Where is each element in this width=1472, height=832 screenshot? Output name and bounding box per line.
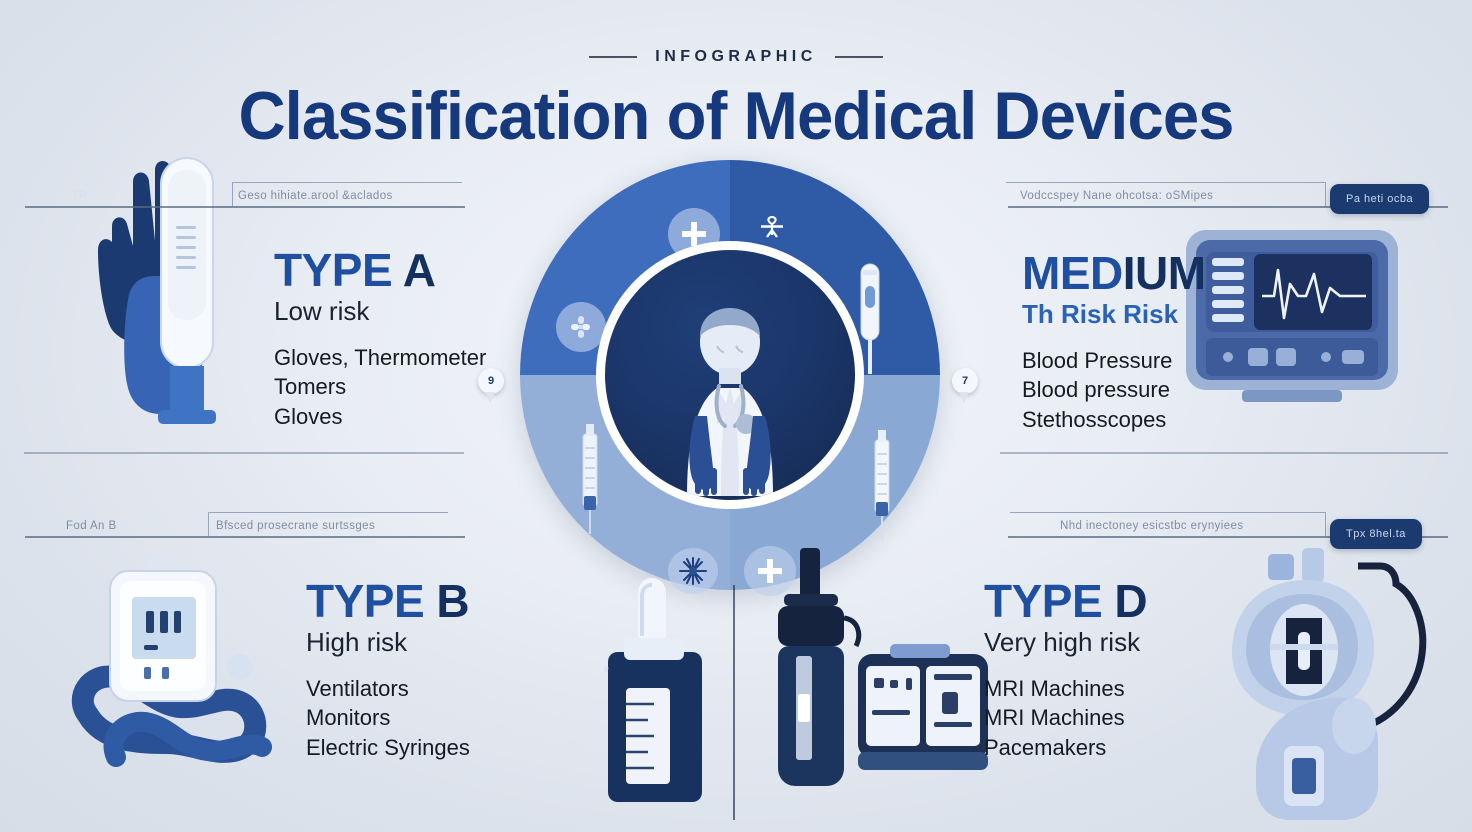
- quadrant-heading-light-d: TYPE: [984, 575, 1102, 627]
- list-item: Blood Pressure: [1022, 346, 1206, 375]
- syringe-right-icon: [860, 428, 904, 548]
- quadrant-items-medium: Blood Pressure Blood pressure Stethossco…: [1022, 346, 1206, 434]
- quadrant-items-type-d: MRI Machines MRI Machines Pacemakers: [984, 674, 1147, 762]
- quadrant-medium: MEDIUM Th Risk Risk Blood Pressure Blood…: [1022, 250, 1206, 434]
- doctor-figure: [635, 296, 825, 500]
- quadrant-subtitle-type-b: High risk: [306, 628, 470, 658]
- connector-label-medium: Vodccspey Nane ohcotsa: oSMipes: [1020, 190, 1213, 202]
- quadrant-subtitle-type-d: Very high risk: [984, 628, 1147, 658]
- quadrant-type-d: TYPE D Very high risk MRI Machines MRI M…: [984, 578, 1147, 762]
- badge-medium[interactable]: Pa heti ocba: [1330, 184, 1429, 214]
- connector-line-type-b: [25, 536, 465, 538]
- connector-label-type-b: Bfsced prosecrane surtssges: [216, 520, 375, 532]
- list-item: MRI Machines: [984, 674, 1147, 703]
- list-item: Tomers: [274, 372, 486, 401]
- quadrant-heading-dark-d: D: [1102, 575, 1147, 627]
- quadrant-heading-dark-medium: IUM: [1123, 247, 1206, 299]
- eyebrow-rule-left: [589, 56, 637, 58]
- pin-marker-right[interactable]: 7: [952, 368, 978, 394]
- illustration-infusion-device: [762, 548, 992, 824]
- divider-horizontal-left: [24, 452, 464, 454]
- illustration-imaging-machine: [1208, 530, 1438, 820]
- quadrant-items-type-a: Gloves, Thermometer Tomers Gloves: [274, 343, 486, 431]
- quadrant-heading-dark-a: A: [392, 244, 435, 296]
- connector-line-type-a: [25, 206, 465, 208]
- list-item: Gloves, Thermometer: [274, 343, 486, 372]
- infographic-canvas: INFOGRAPHIC Classification of Medical De…: [0, 0, 1472, 832]
- quadrant-heading-type-a: TYPE A: [274, 247, 486, 293]
- badge-type-d[interactable]: Tpx 8hel.ta: [1330, 519, 1422, 549]
- quadrant-subtitle-medium: Th Risk Risk: [1022, 300, 1206, 330]
- center-hub: 9 7: [520, 160, 940, 590]
- quadrant-heading-light-a: TYPE: [274, 244, 392, 296]
- quadrant-type-b: TYPE B High risk Ventilators Monitors El…: [306, 578, 470, 762]
- quadrant-heading-type-b: TYPE B: [306, 578, 470, 624]
- quadrant-subtitle-type-a: Low risk: [274, 297, 486, 327]
- illustration-inhaler-bottle: [604, 552, 734, 822]
- side-tag-left-bottom: Fod An B: [66, 520, 117, 532]
- eyebrow-label: INFOGRAPHIC: [655, 48, 817, 66]
- list-item: Gloves: [274, 402, 486, 431]
- list-item: Pacemakers: [984, 733, 1147, 762]
- quadrant-heading-light-b: TYPE: [306, 575, 424, 627]
- list-item: Stethosscopes: [1022, 405, 1206, 434]
- list-item: Monitors: [306, 703, 470, 732]
- syringe-left-icon: [568, 422, 612, 542]
- quadrant-heading-medium: MEDIUM: [1022, 250, 1206, 296]
- divider-horizontal-right: [1000, 452, 1448, 454]
- quadrant-heading-type-d: TYPE D: [984, 578, 1147, 624]
- illustration-monitor-tubing: [58, 545, 338, 795]
- quadrant-items-type-b: Ventilators Monitors Electric Syringes: [306, 674, 470, 762]
- eyebrow-rule-right: [835, 56, 883, 58]
- list-item: Ventilators: [306, 674, 470, 703]
- quadrant-heading-light-medium: MED: [1022, 247, 1123, 299]
- quadrant-heading-dark-b: B: [424, 575, 469, 627]
- connector-label-type-d: Nhd inectoney esicstbc erynyiees: [1060, 520, 1243, 532]
- eyebrow: INFOGRAPHIC: [0, 48, 1472, 66]
- hub-inner-circle: [605, 250, 855, 500]
- side-tag-left-top: TP: [72, 190, 88, 202]
- quadrant-type-a: TYPE A Low risk Gloves, Thermometer Tome…: [274, 247, 486, 431]
- illustration-vital-monitor: [1182, 226, 1402, 406]
- connector-label-type-a: Geso hihiate.arool &aclados: [238, 190, 393, 202]
- list-item: Blood pressure: [1022, 375, 1206, 404]
- list-item: MRI Machines: [984, 703, 1147, 732]
- illustration-gloves-thermometer: [58, 130, 308, 430]
- list-item: Electric Syringes: [306, 733, 470, 762]
